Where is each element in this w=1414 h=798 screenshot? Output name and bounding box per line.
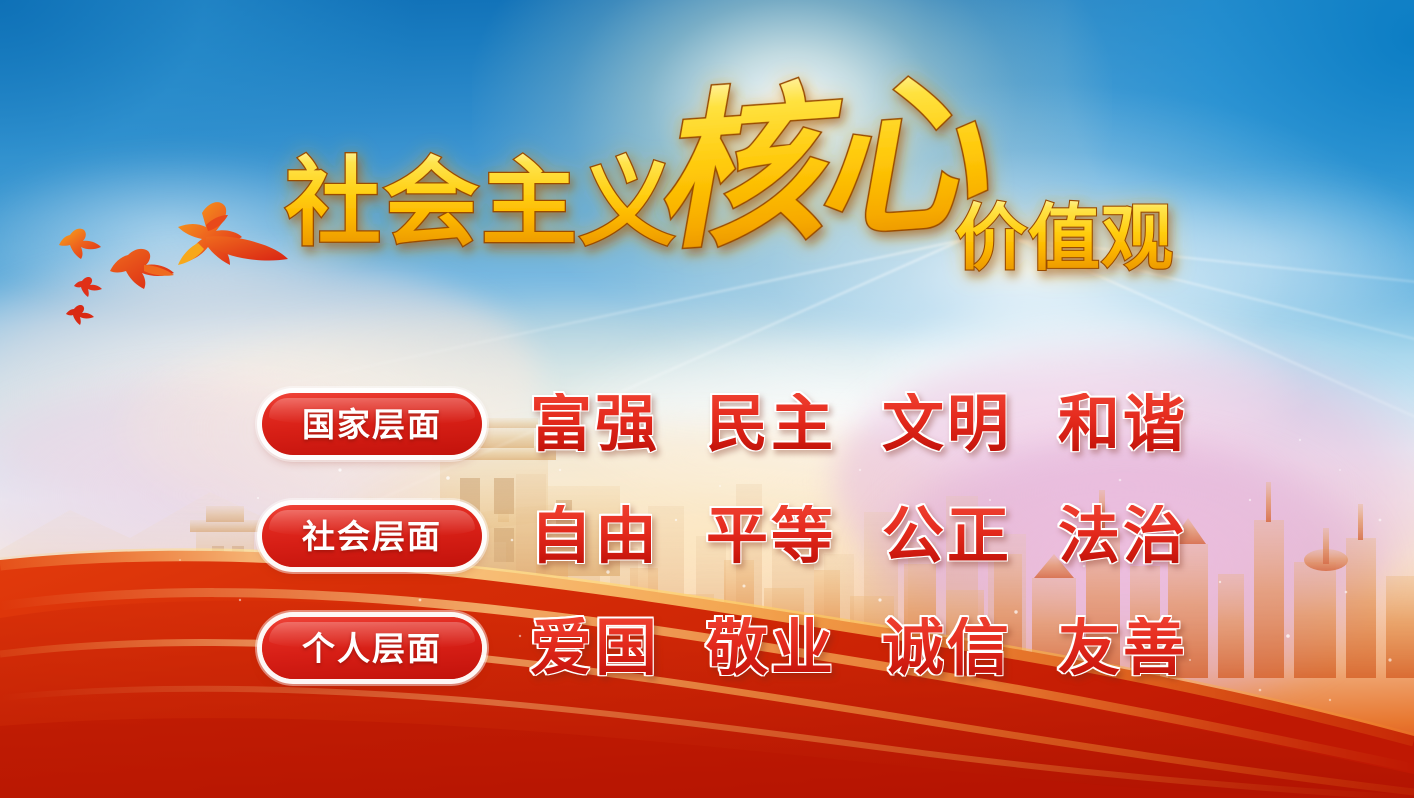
- value-word: 文明: [882, 393, 1012, 455]
- value-word: 诚信: [882, 617, 1012, 679]
- value-word: 公正: [882, 505, 1012, 567]
- sky-left-tint: [0, 0, 566, 399]
- value-word: 法治: [1058, 505, 1188, 567]
- value-word: 富强: [530, 393, 660, 455]
- value-word: 民主: [706, 393, 836, 455]
- badge-individual-level[interactable]: 个人层面: [262, 617, 482, 679]
- value-word: 自由: [530, 505, 660, 567]
- values-row-individual: 个人层面 爱国 敬业 诚信 友善: [0, 592, 1414, 704]
- values-group-national: 富强 民主 文明 和谐: [530, 393, 1188, 455]
- badge-label: 国家层面: [302, 408, 442, 441]
- values-row-social: 社会层面 自由 平等 公正 法治: [0, 480, 1414, 592]
- badge-label: 个人层面: [302, 632, 442, 665]
- badge-social-level[interactable]: 社会层面: [262, 505, 482, 567]
- badge-label: 社会层面: [302, 520, 442, 553]
- badge-national-level[interactable]: 国家层面: [262, 393, 482, 455]
- values-row-national: 国家层面 富强 民主 文明 和谐: [0, 368, 1414, 480]
- value-word: 和谐: [1058, 393, 1188, 455]
- values-group-social: 自由 平等 公正 法治: [530, 505, 1188, 567]
- value-word: 爱国: [530, 617, 660, 679]
- value-word: 平等: [706, 505, 836, 567]
- poster-canvas: 社会主义 核心 价值观 国家层面 富强 民主 文明 和谐 社会层面: [0, 0, 1414, 798]
- value-word: 敬业: [706, 617, 836, 679]
- value-word: 友善: [1058, 617, 1188, 679]
- values-group-individual: 爱国 敬业 诚信 友善: [530, 617, 1188, 679]
- values-rows: 国家层面 富强 民主 文明 和谐 社会层面 自由 平等 公正 法治: [0, 368, 1414, 704]
